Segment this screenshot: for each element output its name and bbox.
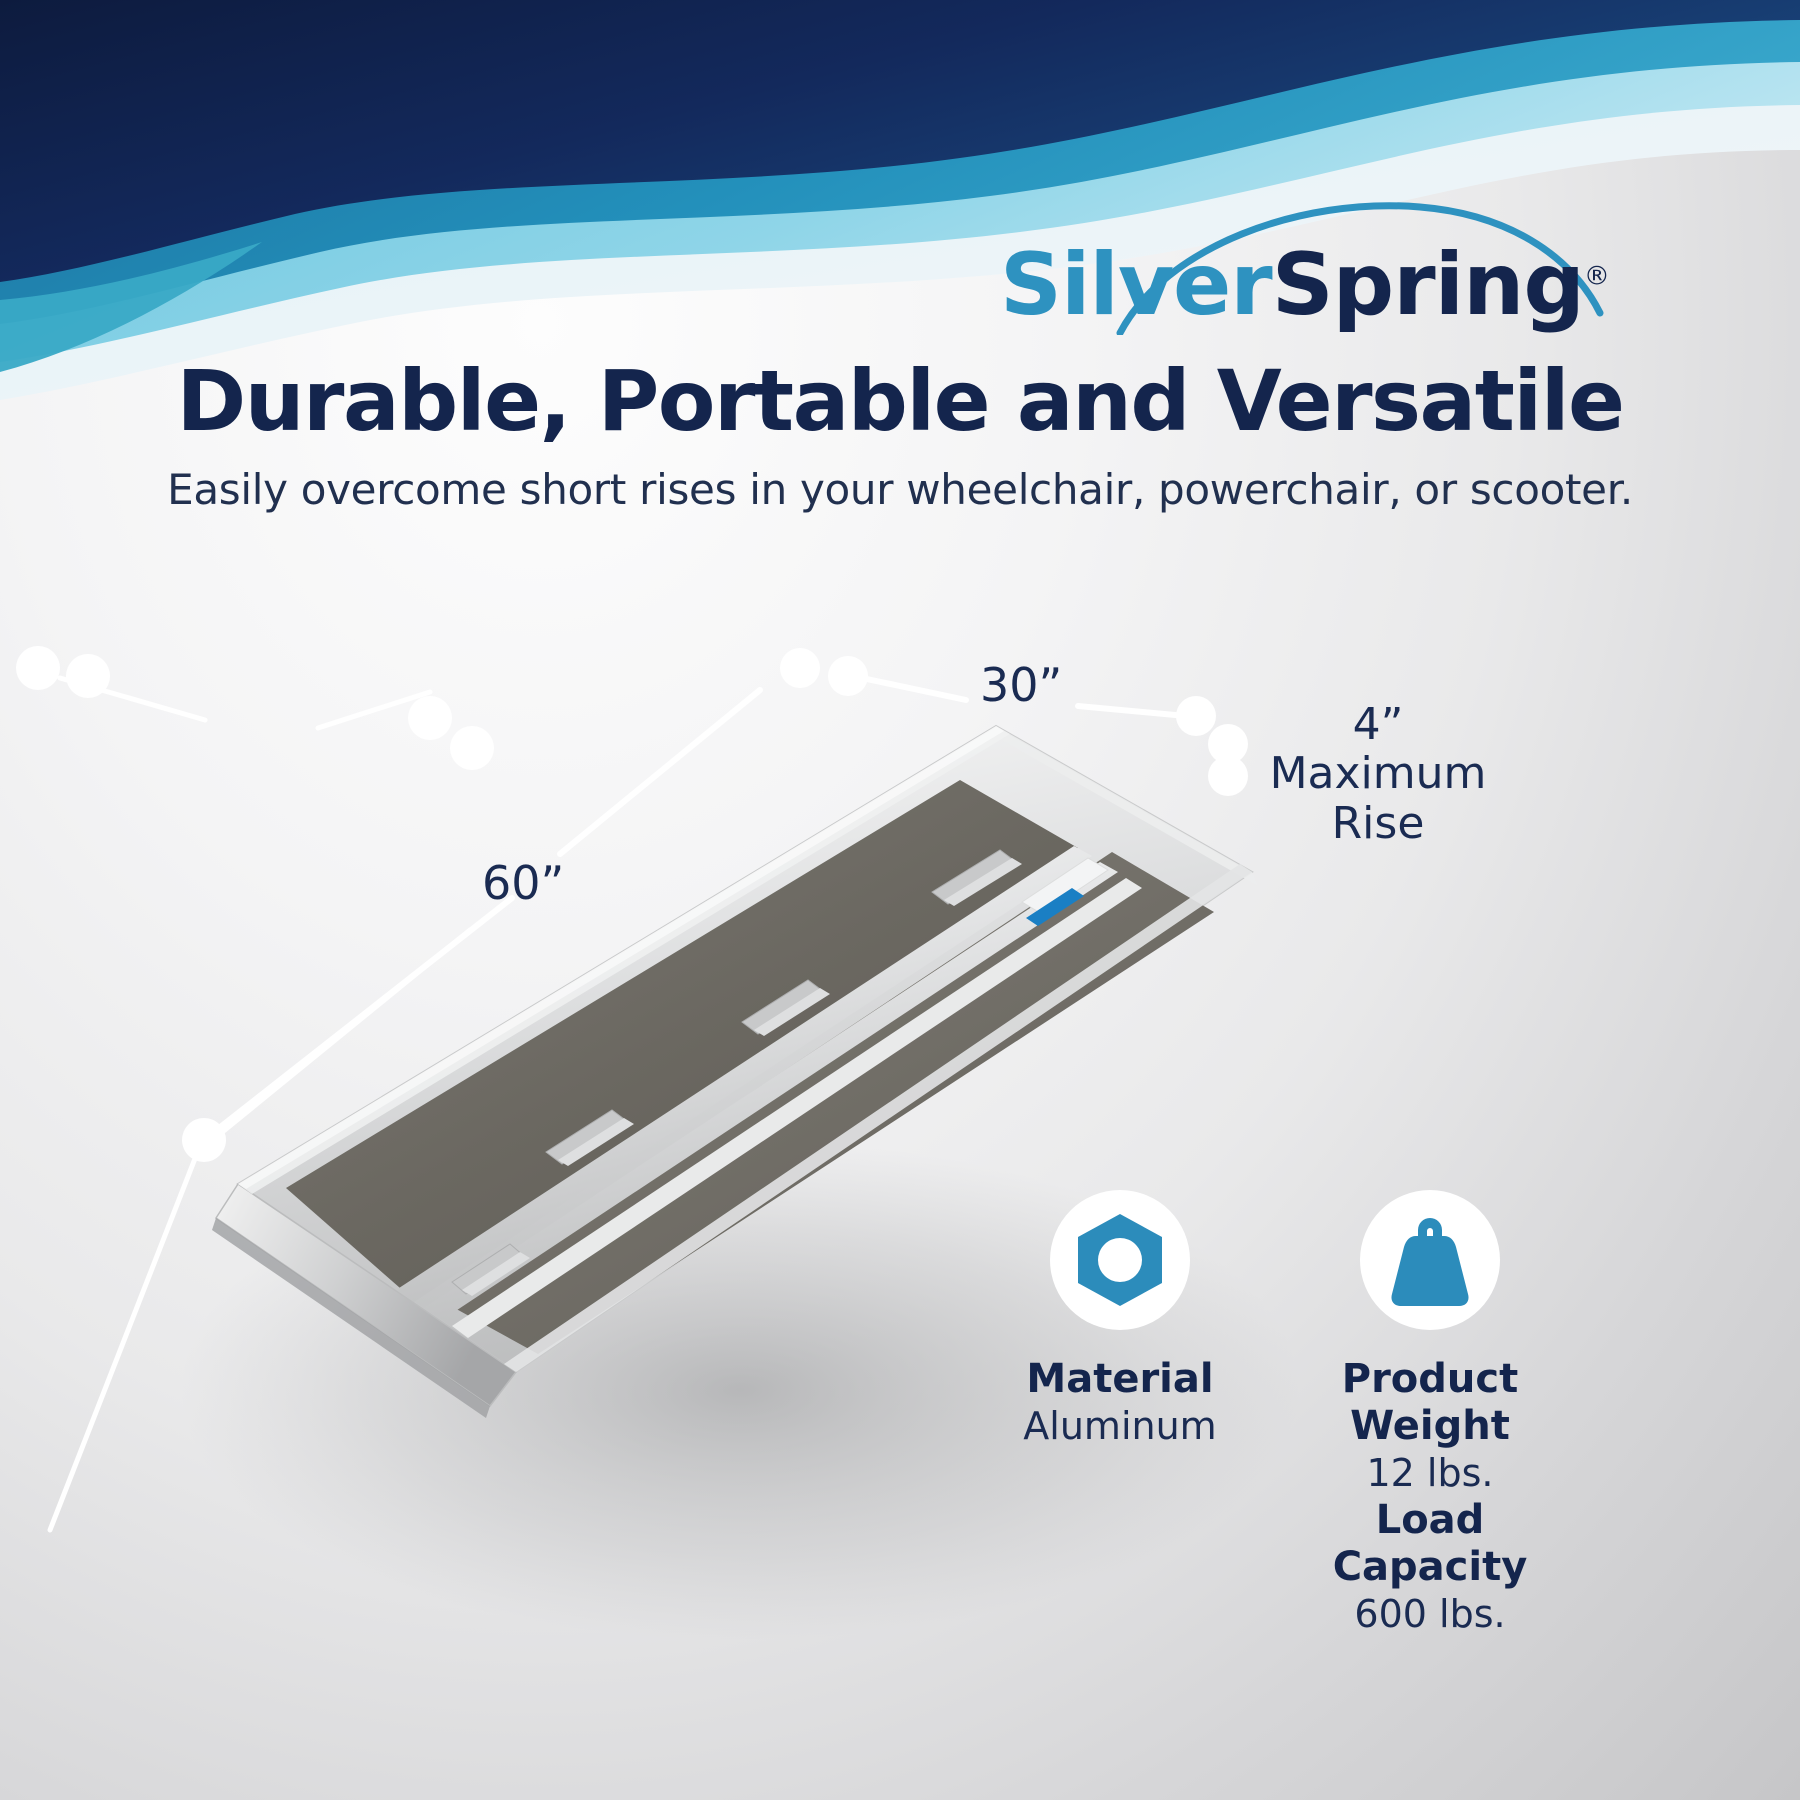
- callout-rise-line2: Maximum: [1258, 749, 1498, 798]
- page-subtitle: Easily overcome short rises in your whee…: [0, 465, 1800, 514]
- spec-material: Material Aluminum: [1000, 1190, 1240, 1450]
- callout-label-length: 60”: [482, 858, 564, 910]
- spec-material-icon-circle: [1050, 1190, 1190, 1330]
- spec-weight-title: Product Weight: [1280, 1356, 1580, 1450]
- spec-weight: Product Weight 12 lbs. Load Capacity 600…: [1280, 1190, 1580, 1637]
- spec-capacity-value: 600 lbs.: [1280, 1591, 1580, 1637]
- weight-kettlebell-icon: [1360, 1190, 1500, 1330]
- callout-rise-line3: Rise: [1258, 799, 1498, 848]
- callout-label-rise: 4” Maximum Rise: [1258, 700, 1498, 848]
- brand-name-light: Silver: [1000, 235, 1272, 335]
- spec-material-value: Aluminum: [1000, 1403, 1240, 1449]
- callout-dot-width-end-2: [450, 726, 494, 770]
- page-title: Durable, Portable and Versatile: [0, 352, 1800, 450]
- callout-leaders-2: [60, 678, 430, 728]
- spec-row: Material Aluminum Product Weight 12 lbs.…: [980, 1190, 1600, 1590]
- callout-label-width: 30”: [980, 660, 1062, 712]
- spec-weight-value: 12 lbs.: [1280, 1450, 1580, 1496]
- callout-dot-width-start-2: [66, 654, 110, 698]
- callout-dot-width-end: [408, 696, 452, 740]
- hex-nut-icon: [1050, 1190, 1190, 1330]
- spec-capacity-title: Load Capacity: [1280, 1497, 1580, 1591]
- brand-wordmark: SilverSpring®: [1000, 235, 1620, 335]
- spec-material-title: Material: [1000, 1356, 1240, 1403]
- callout-rise-line1: 4”: [1258, 700, 1498, 749]
- callout-dot-width-start: [16, 646, 60, 690]
- brand-logo: SilverSpring®: [1000, 195, 1620, 335]
- spec-weight-icon-circle: [1360, 1190, 1500, 1330]
- registered-mark-icon: ®: [1584, 261, 1609, 291]
- brand-name-dark: Spring: [1272, 235, 1584, 335]
